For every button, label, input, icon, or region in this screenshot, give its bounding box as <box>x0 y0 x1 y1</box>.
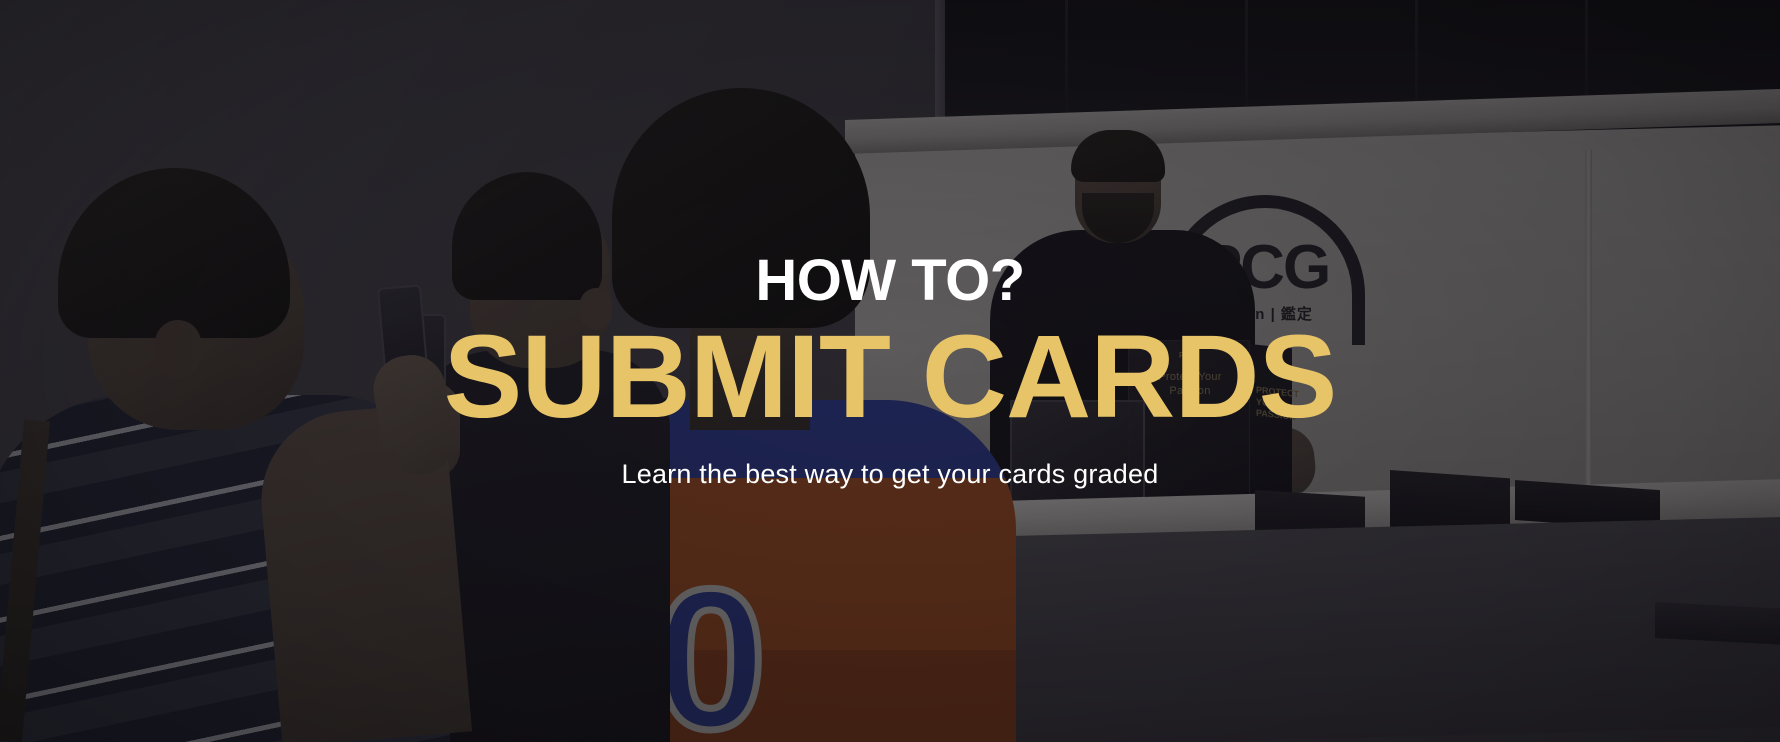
hero-headline: SUBMIT CARDS <box>444 318 1337 436</box>
hero-text-block: HOW TO? SUBMIT CARDS Learn the best way … <box>0 0 1780 742</box>
hero-banner: PCG Japan | 鑑定 PCG Protect Your Passion … <box>0 0 1780 742</box>
hero-subheadline: Learn the best way to get your cards gra… <box>622 458 1159 490</box>
hero-kicker: HOW TO? <box>755 252 1024 310</box>
